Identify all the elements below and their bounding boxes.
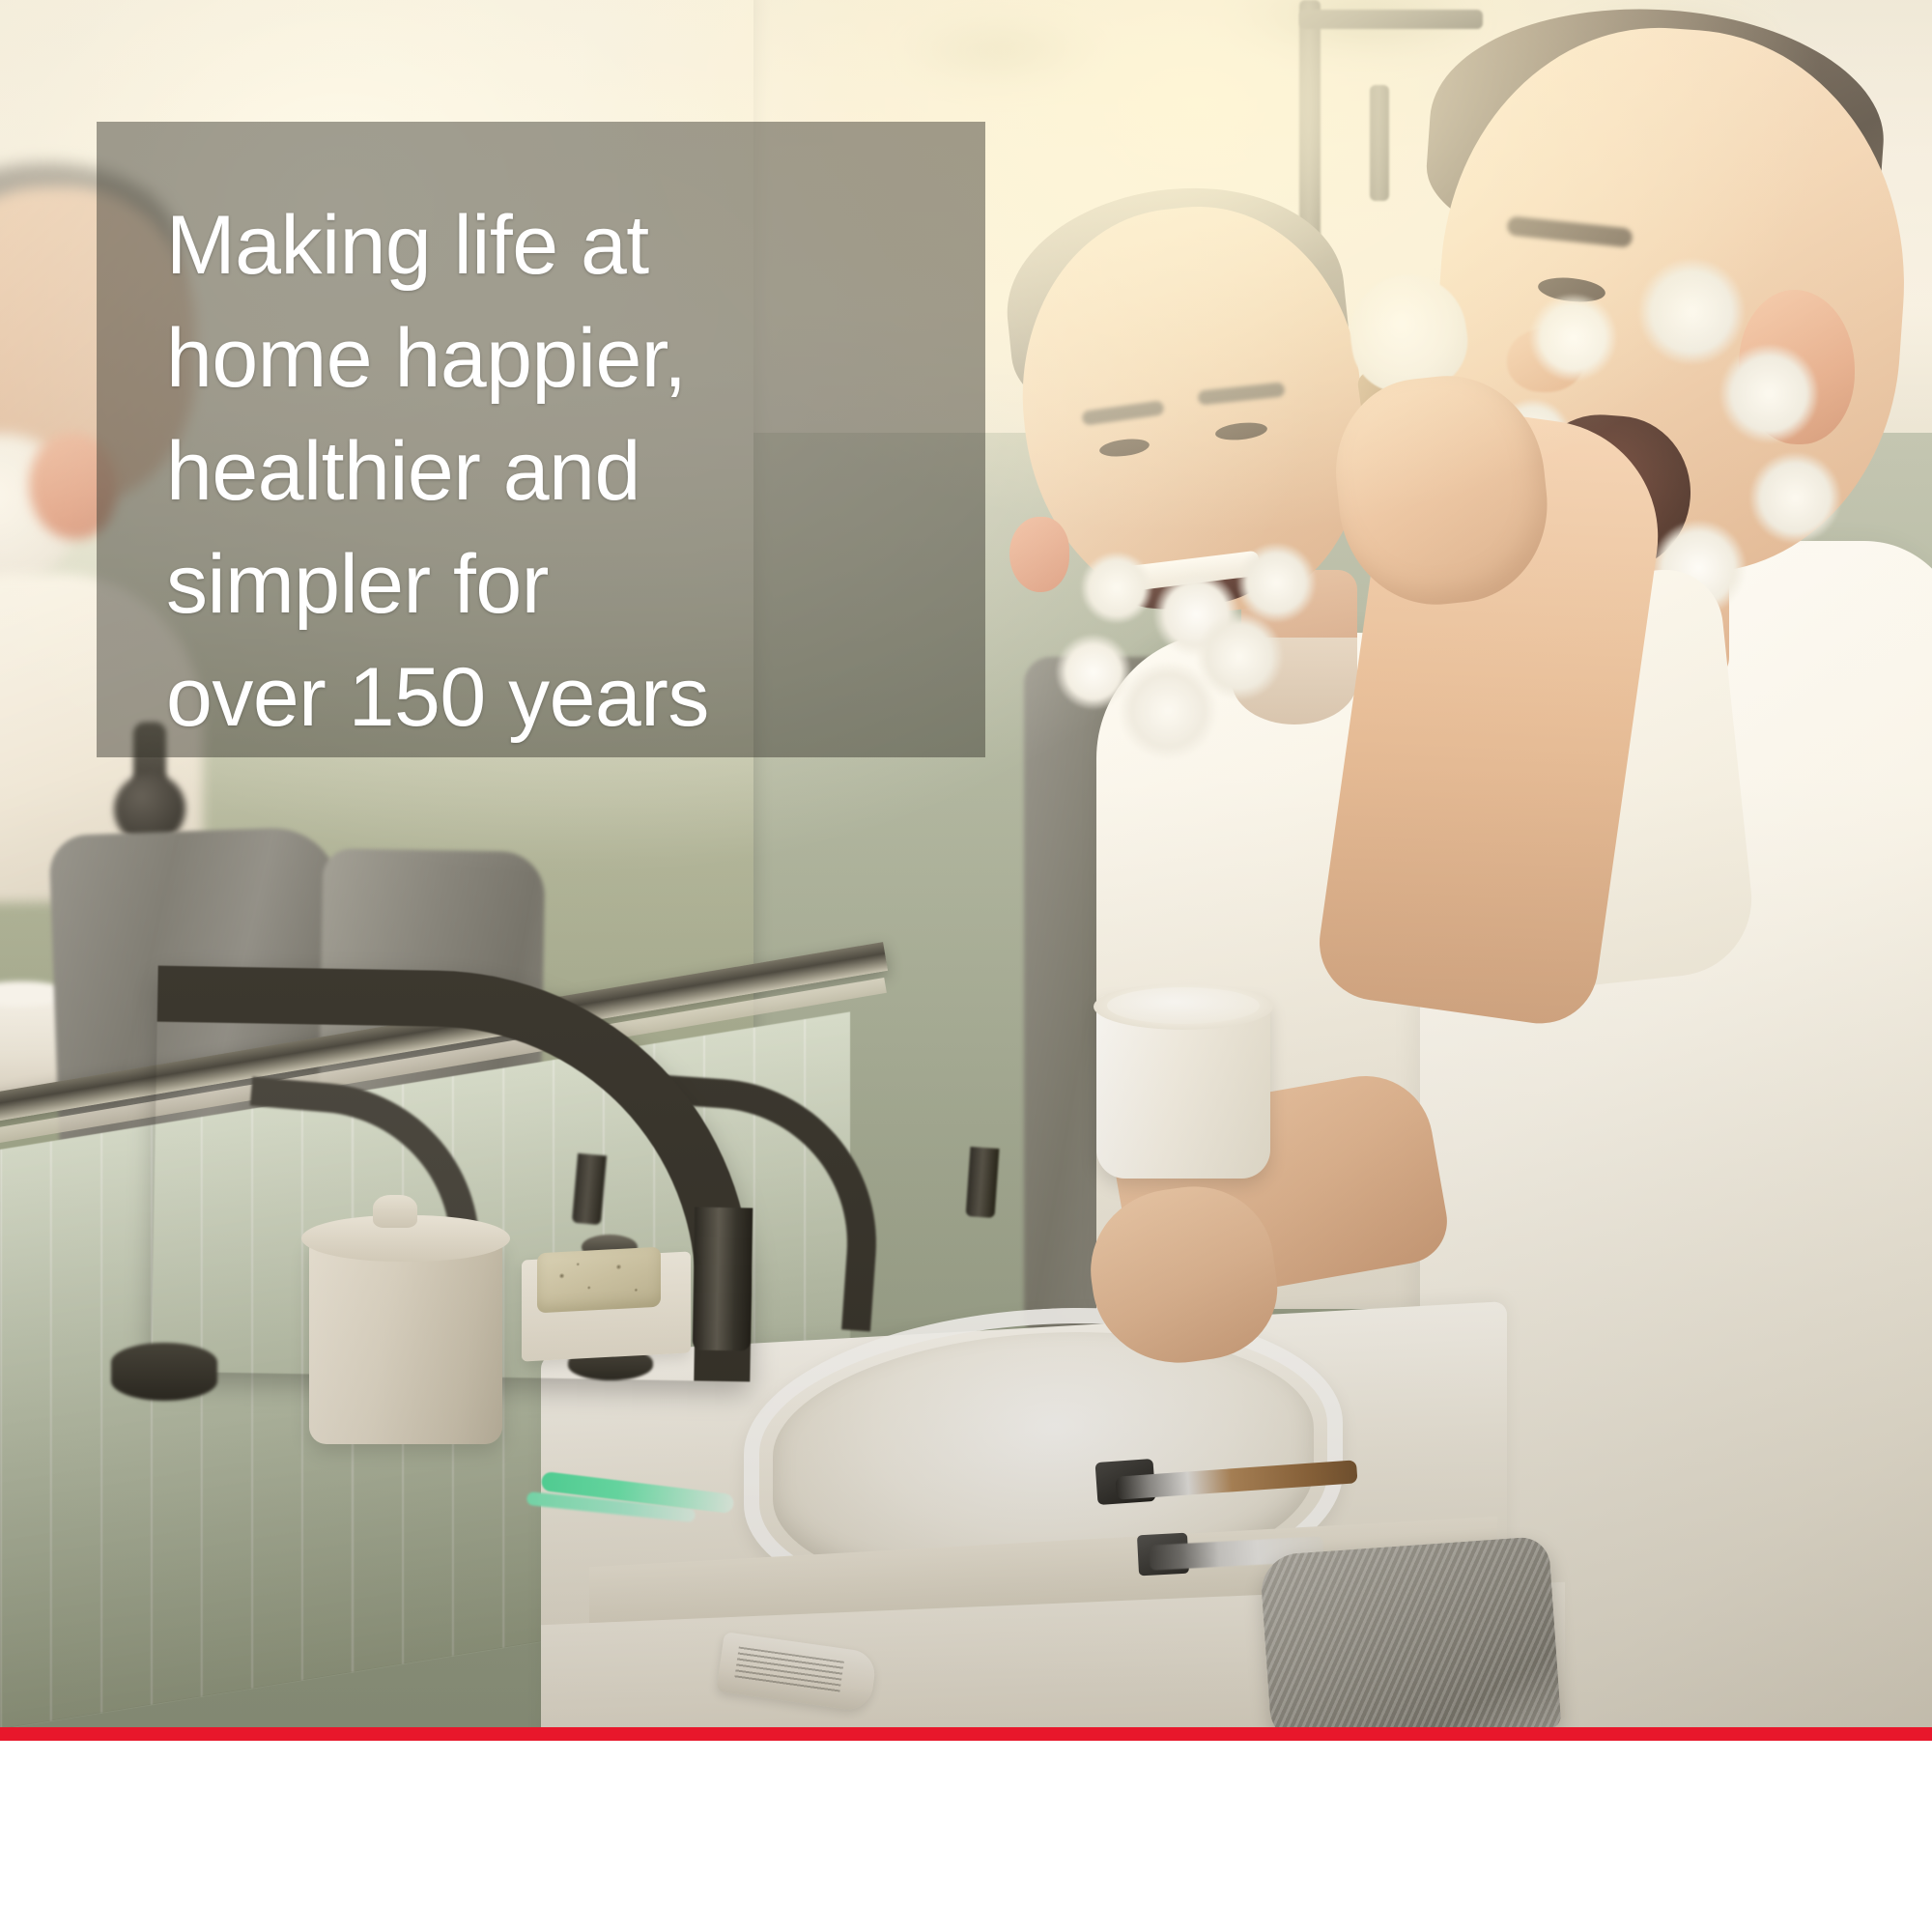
hero-photo: Making life at home happier, healthier a… bbox=[0, 0, 1932, 1727]
brand-accent-bar bbox=[0, 1727, 1932, 1741]
headline-text: Making life at home happier, healthier a… bbox=[166, 189, 968, 754]
footer: American Standard bbox=[0, 1741, 1932, 1932]
advertisement-canvas: Making life at home happier, healthier a… bbox=[0, 0, 1932, 1932]
